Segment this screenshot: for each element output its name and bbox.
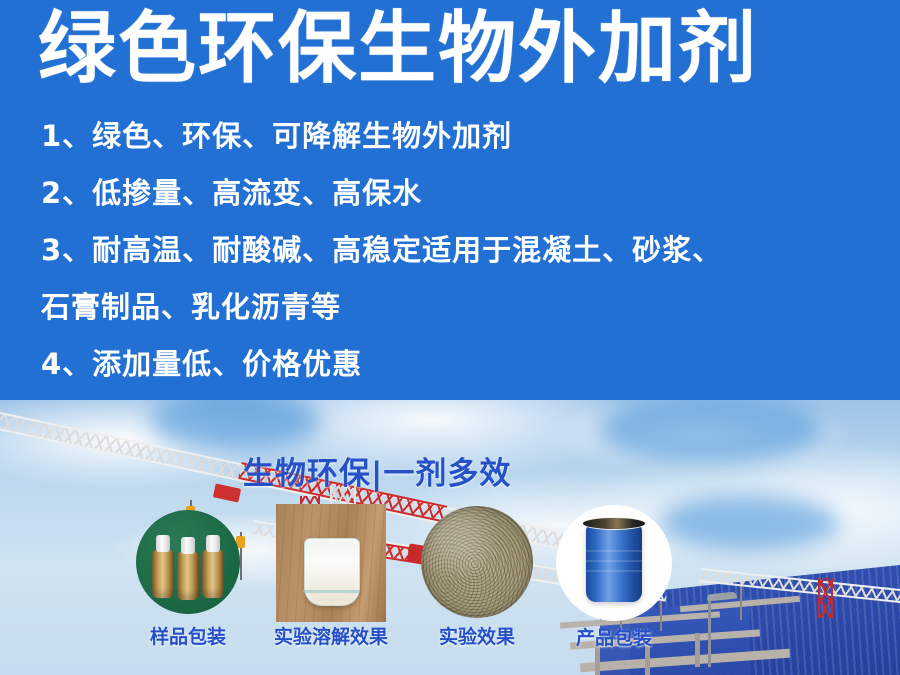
headline-panel: 绿色环保生物外加剂 1、绿色、环保、可降解生物外加剂 2、低掺量、高流变、高保水… (0, 0, 900, 400)
dissolution-beaker-image (276, 504, 386, 622)
product-mortar-sample[interactable]: 实验效果 (421, 506, 533, 618)
sample-bottle (202, 550, 224, 598)
page-title: 绿色环保生物外加剂 (38, 6, 758, 92)
feature-item-2: 2、低掺量、高流变、高保水 (41, 165, 881, 222)
sample-bottle (152, 550, 174, 598)
product-caption: 产品包装 (576, 623, 652, 650)
product-gallery: 样品包装 实验溶解效果 实验效果 产品包装 (0, 400, 900, 675)
feature-item-1: 1、绿色、环保、可降解生物外加剂 (41, 108, 881, 165)
beaker (304, 538, 360, 606)
product-sample-bottles[interactable]: 样品包装 (136, 510, 240, 614)
product-caption: 实验溶解效果 (274, 622, 388, 649)
product-caption: 实验效果 (439, 622, 515, 649)
feature-item-3-continued: 石膏制品、乳化沥青等 (41, 279, 881, 336)
blue-drum-image (556, 505, 672, 621)
feature-item-3: 3、耐高温、耐酸碱、高稳定适用于混凝土、砂浆、 (41, 222, 881, 279)
sample-bottle (177, 552, 199, 600)
product-blue-drum[interactable]: 产品包装 (556, 505, 672, 621)
product-dissolution-beaker[interactable]: 实验溶解效果 (276, 504, 386, 622)
mortar-sample-image (421, 506, 533, 618)
sample-bottles-image (136, 510, 240, 614)
product-poster: 绿色环保生物外加剂 1、绿色、环保、可降解生物外加剂 2、低掺量、高流变、高保水… (0, 0, 900, 675)
feature-list: 1、绿色、环保、可降解生物外加剂 2、低掺量、高流变、高保水 3、耐高温、耐酸碱… (41, 108, 881, 393)
product-caption: 样品包装 (150, 622, 226, 649)
feature-item-4: 4、添加量低、价格优惠 (41, 336, 881, 393)
plastic-drum (586, 524, 642, 602)
